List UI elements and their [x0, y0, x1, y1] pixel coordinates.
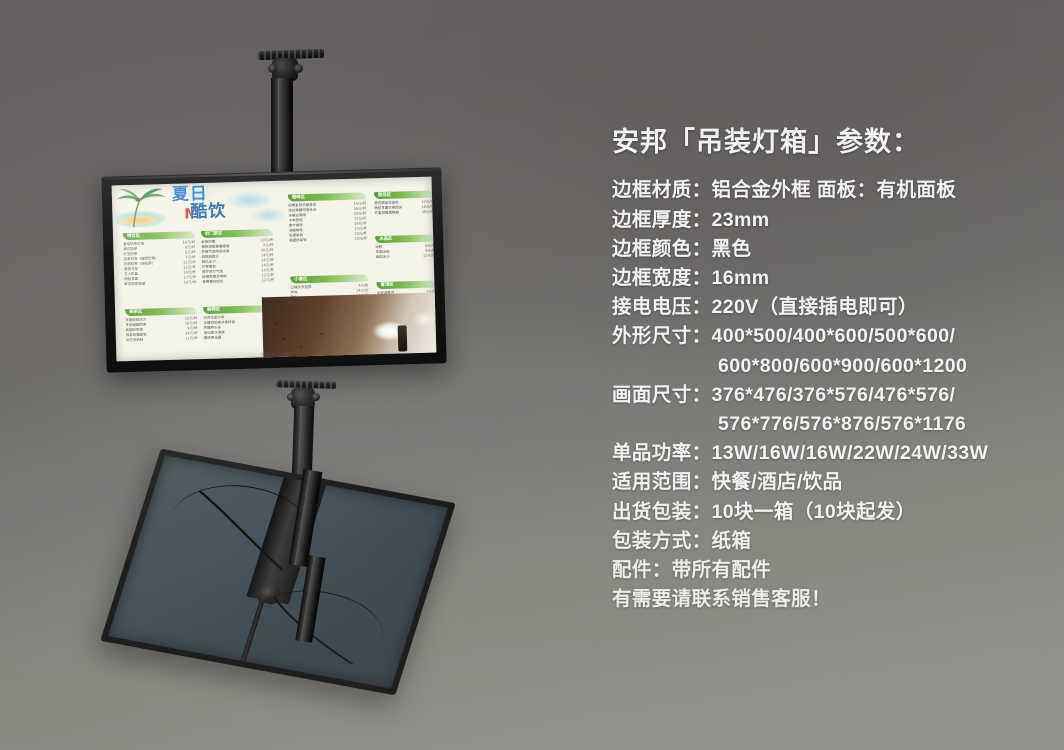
- spec-title: 安邦「吊装灯箱」参数：: [612, 126, 1042, 158]
- menu-section-header: 小食区: [290, 274, 368, 283]
- menu-section-items: 金桔柠檬10元/杯 蜜桃百香果爆爆珠9元/杯 柠檬气泡特调冰爽10元/杯 鲜榨柳…: [201, 238, 274, 285]
- menu-section-items: 冰粉8元/份 芋圆冰粉9元/份 绵绵冰沙12元/份: [375, 243, 435, 260]
- spec-line-application: 适用范围：快餐/酒店/饮品: [612, 468, 1042, 497]
- palm-tree-icon: [114, 187, 171, 229]
- menu-item: 草莓莓好时光12元/杯: [202, 278, 274, 285]
- menu-section-header: 奶门茶区: [201, 229, 273, 238]
- menu-section-items: 港式甜品双皮奶12元/份 杨枝甘露芒果西米16元/份 芒果班戟蛋糕卷18元/份: [374, 200, 434, 217]
- spec-line-frame-color: 边框颜色：黑色: [612, 235, 1042, 264]
- menu-section-items: 经典拿铁浓缩意式14元/杯 澳白焦糖玛奇朵冰16元/杯 冰美式黑咖10元/杯 卡…: [288, 201, 367, 243]
- spec-line-picture-size-cont: 576*776/576*876/576*1176: [612, 410, 1042, 439]
- menu-display-panel: 夏日 M 酷饮 特饮区 香草奶茶珍珠10元/杯 港式奶茶9元/杯 红豆奶茶9元/…: [112, 177, 437, 362]
- light-box-back-panel: [108, 455, 448, 688]
- menu-section-header: 雪顶区: [376, 280, 436, 289]
- menu-section-header: 特饮区: [123, 231, 195, 240]
- product-photograph: 夏日 M 酷饮 特饮区 香草奶茶珍珠10元/杯 港式奶茶9元/杯 红豆奶茶9元/…: [0, 0, 560, 750]
- mount-pivot-bolt-left: [268, 64, 277, 73]
- menu-section-items: 芋香奶绿冰沙10元/杯 芋泥啵啵奶茶10元/杯 桂圆红枣茶9元/杯 抹茶奶霜拿铁…: [125, 316, 198, 343]
- spec-line-picture-size: 画面尺寸：376*476/376*576/476*576/: [612, 381, 1042, 410]
- led-light-box-rear: [100, 449, 456, 696]
- coffee-cup-dark: [397, 325, 407, 351]
- menu-watermark: 淘宝网 安邦广告器材: [260, 351, 292, 357]
- led-light-box-front: 夏日 M 酷饮 特饮区 香草奶茶珍珠10元/杯 港式奶茶9元/杯 红豆奶茶9元/…: [101, 167, 446, 372]
- menu-section-1: 奶门茶区 金桔柠檬10元/杯 蜜桃百香果爆爆珠9元/杯 柠檬气泡特调冰爽10元/…: [201, 229, 274, 285]
- menu-item: 鲜芋奶茶波波10元/杯: [124, 280, 196, 287]
- menu-section-header: 咖啡区: [288, 192, 366, 201]
- spec-line-voltage: 接电电压：220V（直接插电即可）: [612, 293, 1042, 322]
- menu-item: 冰白玉奶绿11元/杯: [126, 336, 198, 343]
- menu-section-4: 咖啡区 经典拿铁浓缩意式14元/杯 澳白焦糖玛奇朵冰16元/杯 冰美式黑咖10元…: [288, 192, 367, 243]
- specification-block: 安邦「吊装灯箱」参数： 边框材质：铝合金外框 面板：有机面板 边框厚度：23mm…: [612, 126, 1042, 614]
- spec-line-packaging-method: 包装方式：纸箱: [612, 527, 1042, 556]
- spec-line-shipping-package: 出货包装：10块一箱（10块起发）: [612, 498, 1042, 527]
- spec-line-contact: 有需要请联系销售客服！: [612, 585, 1042, 614]
- spec-line-outer-size-cont: 600*800/600*900/600*1200: [612, 352, 1042, 381]
- menu-section-6: 甜品区 港式甜品双皮奶12元/份 杨枝甘露芒果西米16元/份 芒果班戟蛋糕卷18…: [374, 191, 435, 217]
- menu-title-line2: 酷饮: [190, 203, 226, 221]
- spec-line-frame-width: 边框宽度：16mm: [612, 264, 1042, 293]
- lower-pivot-bolt-right: [312, 393, 320, 401]
- menu-section-header: 甜品区: [374, 191, 434, 200]
- menu-section-items: 香草奶茶珍珠10元/杯 港式奶茶9元/杯 红豆奶茶9元/杯 四季奶青（爆浆珍珠）…: [123, 240, 196, 287]
- menu-section-header: 果茶区: [125, 307, 197, 316]
- menu-section-7: 冰品区 冰粉8元/份 芋圆冰粉9元/份 绵绵冰沙12元/份: [375, 234, 436, 260]
- spec-line-power: 单品功率：13W/16W/16W/22W/24W/33W: [612, 439, 1042, 468]
- spec-line-frame-material: 边框材质：铝合金外框 面板：有机面板: [612, 176, 1042, 205]
- menu-section-header: 冰品区: [375, 234, 435, 243]
- spec-line-accessories: 配件：带所有配件: [612, 556, 1042, 585]
- coffee-photo: [262, 293, 436, 358]
- lower-pivot-bolt-left: [287, 393, 295, 401]
- mount-pivot-bolt-right: [294, 64, 303, 73]
- spec-line-frame-thickness: 边框厚度：23mm: [612, 206, 1042, 235]
- mount-pole-upper: [271, 78, 293, 176]
- product-spec-image: 夏日 M 酷饮 特饮区 香草奶茶珍珠10元/杯 港式奶茶9元/杯 红豆奶茶9元/…: [0, 0, 1064, 750]
- pole-seam: [278, 78, 279, 176]
- menu-item: 绵绵冰沙12元/份: [376, 253, 436, 260]
- menu-section-2: 果茶区 芋香奶绿冰沙10元/杯 芋泥啵啵奶茶10元/杯 桂圆红枣茶9元/杯 抹茶…: [125, 307, 198, 343]
- spec-line-outer-size: 外形尺寸：400*500/400*600/500*600/: [612, 322, 1042, 351]
- menu-section-0: 特饮区 香草奶茶珍珠10元/杯 港式奶茶9元/杯 红豆奶茶9元/杯 四季奶青（爆…: [123, 231, 196, 287]
